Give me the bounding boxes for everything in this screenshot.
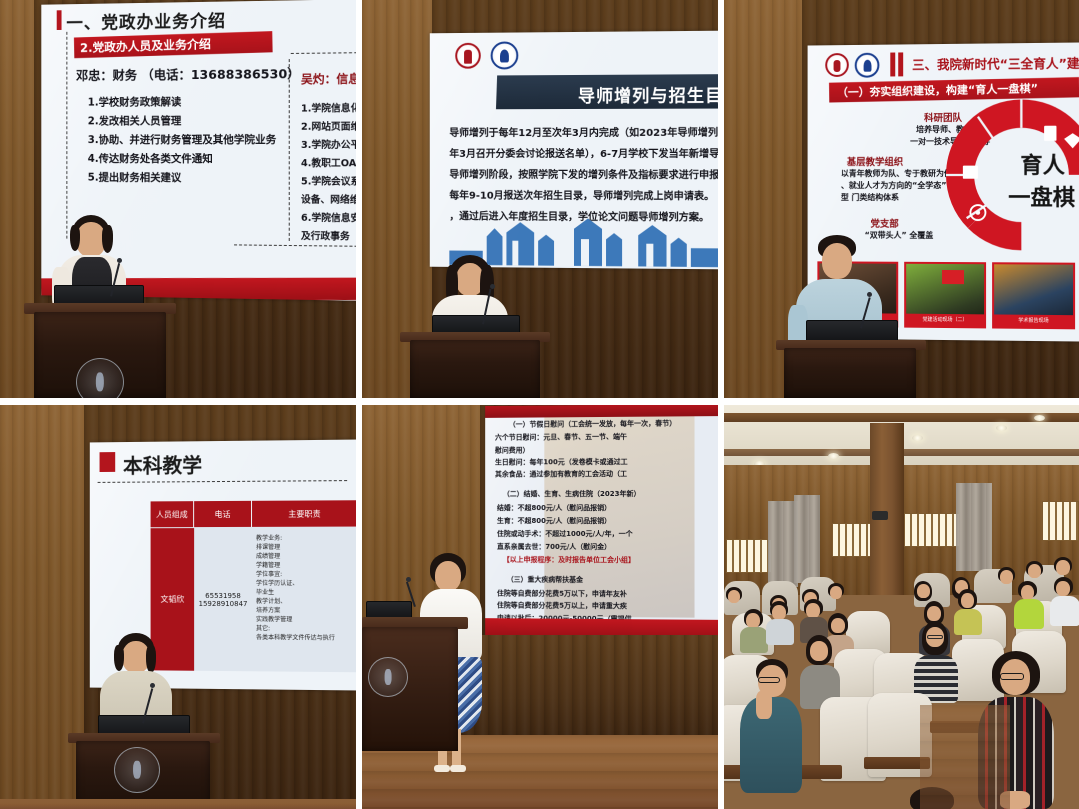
- audience-12-head: [806, 603, 820, 618]
- photo-panel-5: （一）节假日慰问（工会统一发放，每年一次，春节） 六个节日慰问：元旦、春节、五一…: [362, 405, 718, 809]
- slide1-right-bullet-4: 5.学院会议系统: [301, 173, 356, 187]
- security-camera-icon: [872, 511, 888, 520]
- wall-left: [0, 0, 34, 398]
- slide1-bullet-3: 4.传达财务处各类文件通知: [88, 151, 213, 166]
- podium-2: [410, 340, 540, 398]
- window-3: [904, 513, 960, 547]
- audience-5-head: [917, 584, 930, 598]
- speaker-4-hair-right: [146, 645, 156, 673]
- photo-panel-3: 三、我院新时代“三全育人”建设阶段性成果 （一）夯实组织建设，构建“育人一盘棋”…: [724, 0, 1079, 398]
- slide1-right-bullet-1: 2.网站页面维护: [301, 118, 356, 132]
- slide4-dashline: [98, 480, 348, 483]
- slide3-annot-1-title: 基层教学组织: [847, 154, 903, 168]
- audience-17-torso: [1050, 596, 1079, 626]
- speaker-1-hair-left: [70, 225, 80, 251]
- microphone-head-2: [490, 284, 495, 289]
- slide1-divider-top: [291, 52, 356, 54]
- slide2-body-1: 年3月召开分委会讨论报送名单），6-7月学校下发当年新增导师: [449, 145, 718, 160]
- slide1-right-bullet-3: 4.教职工OA系统: [301, 155, 356, 169]
- slide4-th-1: 电话: [194, 501, 252, 527]
- slide1-right-bullet-7: 及行政事务: [301, 228, 350, 243]
- slide1-heading: 一、党政办业务介绍: [66, 7, 226, 34]
- audience-19-glasses-icon: [927, 635, 943, 639]
- gutter-h: [0, 398, 1079, 405]
- slide3-annot-1-l2: 型 门类结构体系: [841, 192, 899, 203]
- slide2-body-3: 每年9-10月报送次年招生目录，导师增列完成上岗申请表。: [449, 187, 714, 203]
- slide2-body-2: 导师增列阶段，按照学院下发的增列条件及指标要求进行申报。: [449, 166, 718, 182]
- slide1-bullet-2: 3.协助、并进行财务管理及其他学院业务: [88, 132, 277, 147]
- slide3-thumb-caption-2: 学术报告现场: [994, 314, 1073, 327]
- slide1-right-bullet-6: 6.学院信息安全: [301, 210, 356, 225]
- slide5-body-3: 生日慰问：每年100元（发卷模卡或通过工: [495, 457, 628, 468]
- curtain-2: [794, 495, 820, 583]
- audience-17-head: [1056, 581, 1070, 596]
- projection-screen-2: 导师增列与招生目录 导师增列于每年12月至次年3月内完成（如2023年导师增列于…: [430, 31, 718, 270]
- photo-panel-1: 一、党政办业务介绍 2.党政办人员及业务介绍 邓忠：财务 （电话：1368838…: [0, 0, 356, 398]
- audience-18-head: [810, 641, 828, 661]
- slide2-heading: 导师增列与招生目录: [578, 81, 718, 107]
- ceiling-light-6c: [912, 435, 923, 441]
- ceiling-light-6e: [1034, 415, 1045, 421]
- slide5-body-0: （一）节假日慰问（工会统一发放，每年一次，春节）: [509, 418, 677, 429]
- audience-10-torso: [740, 627, 768, 653]
- wall-left-4: [0, 405, 84, 809]
- university-seal-red-icon: [455, 43, 481, 69]
- floor-4: [0, 799, 356, 809]
- slide1-bullet-4: 5.提出财务相关建议: [88, 170, 182, 185]
- podium-emblem-1: [76, 358, 124, 398]
- photo-panel-2: 导师增列与招生目录 导师增列于每年12月至次年3月内完成（如2023年导师增列于…: [362, 0, 718, 398]
- speaker-1-hair-right: [102, 225, 113, 253]
- audience-14-head: [927, 606, 941, 621]
- university-seal-red-icon-3: [825, 53, 849, 77]
- slide5-body-4: 其余食品：通过参加有教育的工会活动（工: [495, 469, 627, 479]
- audience-15-torso: [954, 609, 982, 635]
- audience-1-head: [728, 590, 740, 603]
- title-tick: [57, 10, 62, 30]
- podium-emblem-4: [114, 747, 160, 793]
- audience-10-head: [746, 613, 760, 628]
- photo-panel-6: [724, 405, 1079, 809]
- podium-emblem-5: [368, 657, 408, 697]
- speaker-3-head: [822, 243, 852, 279]
- slide4-heading: 本科教学: [123, 449, 202, 479]
- microphone-head-1: [117, 258, 122, 263]
- speaker-5-head: [435, 561, 461, 591]
- slide1-subheading: 2.党政办人员及业务介绍: [74, 31, 273, 58]
- slide3-thumbnail-2: 学术报告现场: [992, 262, 1075, 329]
- slide4-table-header: 人员组成 电话 主要职责: [151, 500, 356, 527]
- slide3-heading: 三、我院新时代“三全育人”建设阶段性成果: [912, 52, 1079, 73]
- slide1-bullet-0: 1.学校财务政策解读: [88, 94, 182, 109]
- audience-16-torso: [1014, 599, 1044, 629]
- speaker-4-hair-left: [114, 645, 124, 671]
- photo-collage: 一、党政办业务介绍 2.党政办人员及业务介绍 邓忠：财务 （电话：1368838…: [0, 0, 1079, 809]
- audience-9-head: [1056, 560, 1070, 575]
- microphone-head-3: [867, 292, 872, 297]
- support-pillar: [870, 423, 904, 595]
- university-seal-blue-icon: [491, 41, 519, 69]
- floor-6: [920, 705, 1010, 809]
- speaker-5-shoe-left: [434, 765, 450, 772]
- slide4-cell-phone: 65531958 15928910847: [194, 528, 252, 671]
- slide5-body-9: 直系亲属去世：700元/人（慰问金）: [497, 542, 611, 552]
- slide3-annot-2-title: 党支部: [871, 216, 899, 230]
- slide5-body-8: 住院或动手术：不超过1000元/人/年，一个: [497, 529, 633, 539]
- audience-20-glasses-icon: [758, 677, 780, 683]
- slide5-body-2: 慰问费用）: [495, 445, 529, 455]
- slide1-right-bullet-0: 1.学院信息化建设: [301, 100, 356, 115]
- slide3-tick-2: [898, 52, 903, 76]
- slide1-bullet-1: 2.发改相关人员管理: [88, 113, 182, 128]
- slide1-right-bullet-5: 设备、网络维护: [301, 191, 356, 206]
- slide2-body-0: 导师增列于每年12月至次年3月内完成（如2023年导师增列于当: [449, 124, 718, 139]
- audience-21-glasses-icon: [1000, 673, 1024, 680]
- speaker-5-shoe-right: [450, 765, 466, 772]
- slide3-annot-1-l0: 以青年教师为队、专于教研为体: [841, 168, 952, 179]
- slide4-th-0: 人员组成: [151, 501, 195, 527]
- slide3-tick-1: [890, 53, 895, 77]
- slide1-divider-left: [66, 32, 67, 239]
- audience-7-head: [1000, 570, 1013, 584]
- audience-15-head: [961, 593, 974, 608]
- ceiling-light-6b: [828, 453, 839, 459]
- photo-panel-4: 本科教学 人员组成 电话 主要职责 文韬欣 65531958 159289108…: [0, 405, 356, 809]
- microphone-head-5: [406, 577, 411, 582]
- slide3-center-bottom: 一盘棋: [1008, 180, 1075, 212]
- ceiling-beam-1: [724, 413, 1079, 422]
- slide3-annot-1-l1: 、就业人才为方向的“全学态”: [841, 180, 947, 191]
- audience-11-head: [772, 605, 786, 620]
- ceiling-light-6d: [996, 425, 1007, 431]
- slide1-right-heading: 吴灼：信息化: [301, 70, 356, 87]
- slide3-center-top: 育人: [1020, 148, 1065, 180]
- slide5-body-1: 六个节日慰问：元旦、春节、五一节、端午: [495, 432, 627, 443]
- slide5-body-6: 结婚：不超800元/人（慰问品报销）: [497, 503, 611, 513]
- audience-11-torso: [766, 619, 794, 645]
- podium-3: [784, 348, 916, 398]
- slide4-th-2: 主要职责: [252, 500, 356, 527]
- slide4-cell-duties: 教学业务: 排课管理 成绩管理 学籍管理 学位事宜: 学位学历认证、 毕业生 教…: [252, 528, 356, 673]
- microphone-head-4: [150, 683, 155, 688]
- laptop-3: [806, 320, 898, 342]
- slide1-right-bullet-2: 3.学院办公平台: [301, 137, 356, 151]
- slide1-contact: 邓忠：财务 （电话：13688386530）: [76, 63, 300, 84]
- university-seal-blue-icon-3: [855, 53, 880, 78]
- audience-8-head: [1028, 564, 1041, 578]
- window-4: [1042, 501, 1079, 541]
- slide4-tick: [100, 452, 116, 472]
- curtain-3: [956, 483, 992, 571]
- slide1-divider-mid: [289, 59, 290, 241]
- audience-13-head: [831, 618, 845, 633]
- window-1: [726, 539, 772, 573]
- audience-16-head: [1021, 585, 1034, 600]
- audience-20-arm: [756, 691, 772, 719]
- slide1-divider-bottom: [234, 244, 356, 246]
- audience-4-head: [830, 586, 842, 599]
- slide5-body-7: 生育：不超800元/人（慰问品报销）: [497, 516, 611, 526]
- slide5-body-5: （二）结婚、生育、生病住院（2023年新）: [503, 489, 641, 499]
